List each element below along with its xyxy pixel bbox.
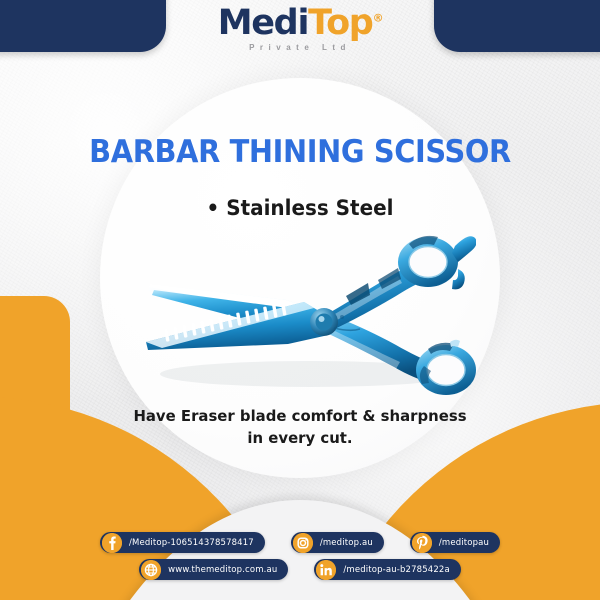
social-row-primary: /Meditop-106514378578417 /meditop.au /me… — [0, 532, 600, 553]
instagram-handle: /meditop.au — [320, 538, 373, 548]
social-link-instagram[interactable]: /meditop.au — [291, 532, 384, 553]
registered-mark-icon: ® — [373, 11, 383, 24]
product-material-subline: • Stainless Steel — [15, 196, 585, 220]
brand-logo: MediTop® Private ltd — [0, 6, 600, 52]
tagline-line-2: in every cut. — [118, 427, 483, 449]
website-url: www.themeditop.com.au — [168, 565, 277, 575]
linkedin-icon — [316, 560, 336, 580]
product-headline: BARBAR THINING SCISSOR — [21, 134, 579, 170]
logo-subtitle: Private ltd — [0, 43, 600, 52]
pinterest-icon — [412, 533, 432, 553]
social-link-linkedin[interactable]: /meditop-au-b2785422a — [314, 559, 460, 580]
globe-icon — [141, 560, 161, 580]
social-footer: /Meditop-106514378578417 /meditop.au /me… — [0, 532, 600, 586]
social-link-pinterest[interactable]: /meditopau — [410, 532, 500, 553]
logo-text-top: Top — [308, 3, 372, 43]
product-advertisement-poster: MediTop® Private ltd BARBAR THINING SCIS… — [0, 0, 600, 600]
linkedin-handle: /meditop-au-b2785422a — [343, 565, 449, 575]
social-row-secondary: www.themeditop.com.au /meditop-au-b27854… — [0, 559, 600, 580]
social-link-facebook[interactable]: /Meditop-106514378578417 — [100, 532, 265, 553]
facebook-handle: /Meditop-106514378578417 — [129, 538, 254, 548]
product-tagline: Have Eraser blade comfort & sharpness in… — [118, 405, 483, 450]
website-link[interactable]: www.themeditop.com.au — [139, 559, 288, 580]
facebook-icon — [102, 533, 122, 553]
instagram-icon — [293, 533, 313, 553]
product-image-thinning-scissor — [128, 224, 476, 396]
pinterest-handle: /meditopau — [439, 538, 489, 548]
logo-wordmark: MediTop® — [0, 6, 600, 41]
logo-text-medi: Medi — [218, 3, 308, 43]
tagline-line-1: Have Eraser blade comfort & sharpness — [118, 405, 483, 427]
